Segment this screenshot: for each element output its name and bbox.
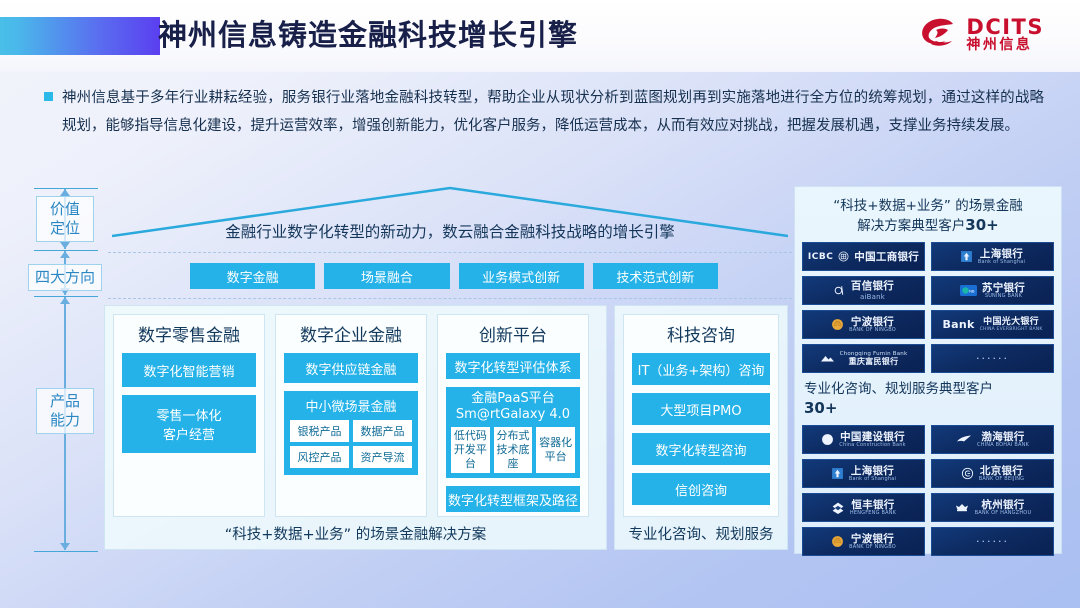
logo-en-label: BANK OF NINGBO bbox=[849, 328, 896, 334]
logo-cn-label: 中国建设银行 bbox=[840, 431, 905, 443]
bank-of-beijing-icon bbox=[961, 467, 974, 480]
box-financial-paas-platform[interactable]: 金融PaaS平台 Sm@rtGalaxy 4.0 低代码开发平台 分布式技术底座… bbox=[446, 387, 580, 478]
logo-en-label: BANK OF BEIJING bbox=[979, 477, 1025, 483]
paas-grid: 低代码开发平台 分布式技术底座 容器化平台 bbox=[451, 427, 575, 473]
direction-pills: 数字金融 场景融合 业务模式创新 技术范式创新 bbox=[190, 263, 718, 289]
logo-en-label: BANK OF HANGZHOU bbox=[975, 511, 1032, 517]
bank-of-shanghai-icon bbox=[831, 467, 844, 480]
ccb-icon bbox=[821, 433, 834, 446]
logo-cell-ccb[interactable]: 中国建设银行 China Construction Bank bbox=[802, 425, 925, 454]
logo-text-stack: 百信银行 aiBank bbox=[851, 280, 894, 300]
paas-cell-container-platform[interactable]: 容器化平台 bbox=[536, 427, 575, 473]
axis-label-product-line1: 产品 bbox=[41, 392, 89, 411]
bullet-square-icon bbox=[44, 92, 53, 101]
logo-cell-ningbo-bank-2[interactable]: 宁波银行 BANK OF NINGBO bbox=[802, 527, 925, 556]
logo-text-stack: 上海银行 Bank of Shanghai bbox=[978, 248, 1025, 266]
column-digital-retail-finance: 数字零售金融 数字化智能营销 零售一体化 客户经营 bbox=[113, 314, 265, 517]
paas-cell-lowcode[interactable]: 低代码开发平台 bbox=[451, 427, 490, 473]
logo-en-label: HENGFENG BANK bbox=[850, 511, 896, 517]
customer-section2-heading: 专业化咨询、规划服务典型客户 30+ bbox=[802, 373, 1054, 425]
logo-cn-label: 神州信息 bbox=[966, 38, 1044, 53]
bohai-bank-icon bbox=[956, 434, 972, 445]
paas-title: 金融PaaS平台 Sm@rtGalaxy 4.0 bbox=[451, 391, 575, 423]
ningbo-bank-icon bbox=[831, 535, 844, 548]
svg-text:NB: NB bbox=[969, 288, 975, 293]
logo-cell-icbc[interactable]: ICBC 中国工商银行 bbox=[802, 242, 925, 271]
logo-text-stack: 渤海银行 CHINA BOHAI BANK bbox=[977, 431, 1029, 449]
sme-cell-asset-routing[interactable]: 资产导流 bbox=[353, 446, 412, 468]
logo-cell-more-1[interactable]: ······ bbox=[931, 344, 1054, 373]
logo-cell-ningbo-bank[interactable]: 宁波银行 BANK OF NINGBO bbox=[802, 310, 925, 339]
logo-en-label: Bank of Shanghai bbox=[978, 260, 1025, 266]
logo-cell-hengfeng-bank[interactable]: 恒丰银行 HENGFENG BANK bbox=[802, 493, 925, 522]
column-innovation-platform: 创新平台 数字化转型评估体系 金融PaaS平台 Sm@rtGalaxy 4.0 … bbox=[437, 314, 589, 517]
column-title: 数字零售金融 bbox=[122, 321, 256, 346]
bank-of-hangzhou-icon bbox=[954, 502, 970, 513]
column-tech-consulting: 科技咨询 IT（业务+架构）咨询 大型项目PMO 数字化转型咨询 信创咨询 bbox=[623, 314, 779, 517]
paas-title-line1: 金融PaaS平台 bbox=[451, 391, 575, 407]
icbc-icon bbox=[838, 251, 849, 262]
logo-cell-suning-bank[interactable]: NB 苏宁银行 SUNING BANK bbox=[931, 276, 1054, 305]
logo-en-label: Bank of Shanghai bbox=[849, 477, 896, 483]
solution-caption: “科技+数据+业务” 的场景金融解决方案 bbox=[105, 523, 606, 544]
axis-label-value-line2: 定位 bbox=[41, 219, 89, 238]
logo-cn-label: 百信银行 bbox=[851, 280, 894, 292]
box-transformation-framework-path[interactable]: 数字化转型框架及路径 bbox=[446, 486, 580, 512]
box-digital-transformation-assessment[interactable]: 数字化转型评估体系 bbox=[446, 353, 580, 379]
logo-cn-label: 宁波银行 bbox=[851, 533, 894, 545]
box-digital-transformation-consulting[interactable]: 数字化转型咨询 bbox=[632, 433, 770, 465]
axis-label-product-line2: 能力 bbox=[41, 411, 89, 430]
logo-cn-label: 恒丰银行 bbox=[851, 499, 894, 511]
logo-cn-label: 中国工商银行 bbox=[854, 249, 919, 264]
everbright-prefix: Bank bbox=[942, 318, 974, 331]
logo-text-stack: 中国建设银行 China Construction Bank bbox=[839, 431, 905, 449]
logo-cell-bank-of-shanghai-2[interactable]: 上海银行 Bank of Shanghai bbox=[802, 459, 925, 488]
ningbo-bank-icon bbox=[831, 318, 844, 331]
axis-label-value-position: 价值 定位 bbox=[36, 196, 94, 242]
column-digital-enterprise-finance: 数字企业金融 数字供应链金融 中小微场景金融 银税产品 数据产品 风控产品 资产… bbox=[275, 314, 427, 517]
logo-cell-fumin-bank[interactable]: Chongqing Fumin Bank 重庆富民银行 bbox=[802, 344, 925, 373]
logo-en-label: CHINA EVERBRIGHT BANK bbox=[980, 327, 1043, 332]
logo-cell-bank-of-shanghai[interactable]: 上海银行 Bank of Shanghai bbox=[931, 242, 1054, 271]
divider-dashed-2 bbox=[108, 298, 792, 299]
logo-text-stack: 恒丰银行 HENGFENG BANK bbox=[850, 499, 896, 517]
aibank-icon bbox=[833, 284, 846, 297]
logo-en-label: China Construction Bank bbox=[839, 443, 905, 449]
logo-cell-aibank[interactable]: 百信银行 aiBank bbox=[802, 276, 925, 305]
box-it-consulting[interactable]: IT（业务+架构）咨询 bbox=[632, 353, 770, 385]
section2-heading-count: 30+ bbox=[804, 399, 837, 417]
logo-cn-label: 北京银行 bbox=[980, 465, 1023, 477]
section1-heading-line1: “科技+数据+业务” 的场景金融 bbox=[833, 198, 1022, 214]
vision-statement: 金融行业数字化转型的新动力，数云融合金融科技战略的增长引擎 bbox=[112, 220, 788, 242]
ellipsis-icon: ······ bbox=[976, 535, 1009, 548]
hengfeng-bank-icon bbox=[831, 501, 845, 514]
section2-heading-line1: 专业化咨询、规划服务典型客户 bbox=[804, 381, 993, 397]
logo-cn-label: 杭州银行 bbox=[981, 499, 1024, 511]
customer-section1-heading: “科技+数据+业务” 的场景金融 解决方案典型客户30+ bbox=[802, 193, 1054, 242]
pill-business-model-innovation[interactable]: 业务模式创新 bbox=[459, 263, 584, 289]
logo-text-stack: 宁波银行 BANK OF NINGBO bbox=[849, 316, 896, 334]
box-line2: 客户经营 bbox=[163, 424, 215, 443]
dcits-logo: DCITS 神州信息 bbox=[919, 14, 1044, 54]
consulting-panel: 科技咨询 IT（业务+架构）咨询 大型项目PMO 数字化转型咨询 信创咨询 专业… bbox=[614, 305, 788, 550]
logo-text: DCITS 神州信息 bbox=[966, 16, 1044, 53]
section1-heading-line2: 解决方案典型客户 bbox=[857, 218, 965, 234]
page-header: 神州信息铸造金融科技增长引擎 DCITS 神州信息 bbox=[0, 0, 1080, 72]
logo-cn-label: 宁波银行 bbox=[851, 316, 894, 328]
sme-cell-data-product[interactable]: 数据产品 bbox=[353, 420, 412, 442]
logo-cn-label: 中国光大银行 bbox=[983, 317, 1039, 327]
solution-panel: 数字零售金融 数字化智能营销 零售一体化 客户经营 数字企业金融 数字供应链金融… bbox=[104, 305, 607, 550]
paas-title-line2: Sm@rtGalaxy 4.0 bbox=[451, 407, 575, 423]
logo-cn-label: 重庆富民银行 bbox=[849, 357, 899, 366]
box-retail-integrated-customer-ops[interactable]: 零售一体化 客户经营 bbox=[122, 395, 256, 453]
sme-cell-risk-product[interactable]: 风控产品 bbox=[290, 446, 349, 468]
customer-logo-grid-1: ICBC 中国工商银行 上海银行 Bank of Shanghai bbox=[802, 242, 1054, 373]
consulting-caption: 专业化咨询、规划服务 bbox=[615, 523, 787, 544]
section1-heading-count: 30+ bbox=[965, 216, 998, 234]
column-title: 数字企业金融 bbox=[284, 321, 418, 346]
logo-text-stack: 北京银行 BANK OF BEIJING bbox=[979, 465, 1025, 483]
logo-cell-bank-of-hangzhou[interactable]: 杭州银行 BANK OF HANGZHOU bbox=[931, 493, 1054, 522]
box-line1: 零售一体化 bbox=[156, 405, 221, 424]
logo-cell-bohai-bank[interactable]: 渤海银行 CHINA BOHAI BANK bbox=[931, 425, 1054, 454]
logo-text-stack: 苏宁银行 SUNING BANK bbox=[982, 282, 1025, 300]
fumin-bank-icon bbox=[820, 353, 835, 364]
axis-divider-bottom bbox=[34, 551, 98, 552]
logo-cell-everbright-bank[interactable]: Bank 中国光大银行 CHINA EVERBRIGHT BANK bbox=[931, 310, 1054, 339]
page-title: 神州信息铸造金融科技增长引擎 bbox=[158, 12, 578, 54]
icbc-prefix: ICBC bbox=[808, 252, 833, 262]
column-title: 科技咨询 bbox=[632, 321, 770, 346]
logo-en-label: DCITS bbox=[966, 16, 1044, 38]
box-xinchuang-consulting[interactable]: 信创咨询 bbox=[632, 473, 770, 505]
logo-cn-label: 上海银行 bbox=[851, 465, 894, 477]
ellipsis-icon: ······ bbox=[976, 352, 1009, 365]
box-large-project-pmo[interactable]: 大型项目PMO bbox=[632, 393, 770, 425]
pill-digital-finance[interactable]: 数字金融 bbox=[190, 263, 315, 289]
logo-en-label: SUNING BANK bbox=[985, 294, 1022, 300]
sme-grid: 银税产品 数据产品 风控产品 资产导流 bbox=[290, 420, 412, 468]
dcits-swoosh-icon bbox=[919, 14, 959, 54]
customer-panel: “科技+数据+业务” 的场景金融 解决方案典型客户30+ ICBC 中国工商银行… bbox=[794, 186, 1062, 554]
axis-label-four-directions: 四大方向 bbox=[28, 264, 102, 291]
logo-cn-label: 苏宁银行 bbox=[982, 282, 1025, 294]
logo-text-stack: 中国光大银行 CHINA EVERBRIGHT BANK bbox=[980, 317, 1043, 333]
box-sme-scenario-finance[interactable]: 中小微场景金融 银税产品 数据产品 风控产品 资产导流 bbox=[284, 391, 418, 475]
axis-label-value-line1: 价值 bbox=[41, 200, 89, 219]
pill-tech-paradigm-innovation[interactable]: 技术范式创新 bbox=[593, 263, 718, 289]
header-accent-bar bbox=[0, 17, 160, 55]
logo-cn-label: 上海银行 bbox=[980, 248, 1023, 260]
logo-text-stack: 杭州银行 BANK OF HANGZHOU bbox=[975, 499, 1032, 517]
suning-icon: NB bbox=[960, 285, 977, 296]
pill-scenario-fusion[interactable]: 场景融合 bbox=[324, 263, 449, 289]
intro-paragraph: 神州信息基于多年行业耕耘经验，服务银行业落地金融科技转型，帮助企业从现状分析到蓝… bbox=[44, 84, 1044, 140]
logo-cell-bank-of-beijing[interactable]: 北京银行 BANK OF BEIJING bbox=[931, 459, 1054, 488]
logo-en-label: BANK OF NINGBO bbox=[849, 545, 896, 551]
logo-en-label: CHINA BOHAI BANK bbox=[977, 443, 1029, 449]
logo-en-label: aiBank bbox=[860, 293, 885, 301]
box-digital-supply-chain-finance[interactable]: 数字供应链金融 bbox=[284, 353, 418, 383]
axis-label-product-capability: 产品 能力 bbox=[36, 388, 94, 434]
divider-dashed-1 bbox=[108, 252, 792, 253]
sme-title: 中小微场景金融 bbox=[290, 396, 412, 415]
intro-text: 神州信息基于多年行业耕耘经验，服务银行业落地金融科技转型，帮助企业从现状分析到蓝… bbox=[62, 84, 1044, 140]
sme-cell-tax-product[interactable]: 银税产品 bbox=[290, 420, 349, 442]
logo-text-stack: Chongqing Fumin Bank 重庆富民银行 bbox=[840, 351, 908, 367]
column-title: 创新平台 bbox=[446, 321, 580, 346]
logo-cn-label: 渤海银行 bbox=[981, 431, 1024, 443]
bank-of-shanghai-icon bbox=[960, 250, 973, 263]
logo-text-stack: 宁波银行 BANK OF NINGBO bbox=[849, 533, 896, 551]
paas-cell-distributed-base[interactable]: 分布式技术底座 bbox=[494, 427, 533, 473]
box-digital-smart-marketing[interactable]: 数字化智能营销 bbox=[122, 353, 256, 387]
customer-logo-grid-2: 中国建设银行 China Construction Bank 渤海银行 CHIN… bbox=[802, 425, 1054, 556]
logo-cell-more-2[interactable]: ······ bbox=[931, 527, 1054, 556]
logo-text-stack: 上海银行 Bank of Shanghai bbox=[849, 465, 896, 483]
